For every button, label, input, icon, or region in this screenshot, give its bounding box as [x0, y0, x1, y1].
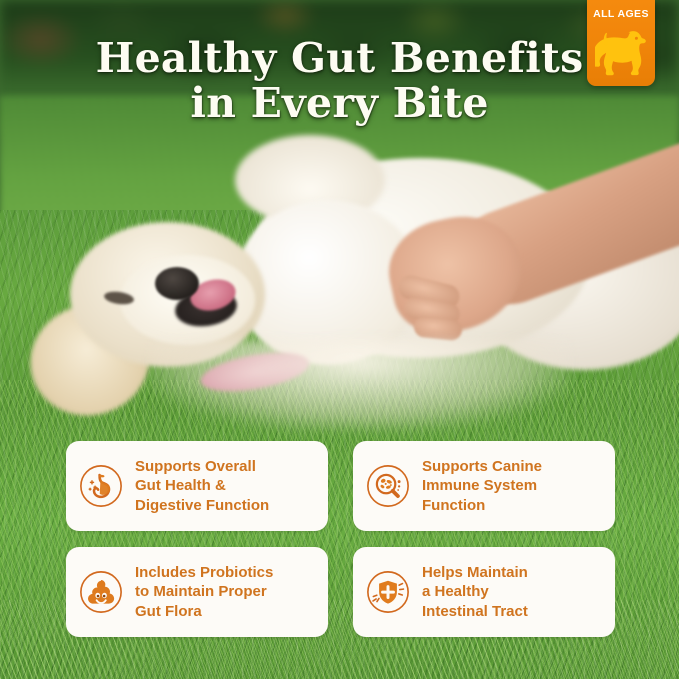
product-benefit-poster: Healthy Gut Benefits in Every Bite ALL A… [0, 0, 679, 679]
stomach-icon [78, 463, 124, 509]
all-ages-badge-label: ALL AGES [593, 8, 649, 20]
benefit-line: Immune System [422, 476, 542, 496]
benefit-card-intestinal-tract: Helps Maintain a Healthy Intestinal Trac… [353, 547, 615, 637]
dog-fur-fringe [150, 340, 570, 430]
benefit-text: Supports Overall Gut Health & Digestive … [135, 457, 269, 516]
headline-line-1: Healthy Gut Benefits [96, 34, 584, 82]
benefit-text: Includes Probiotics to Maintain Proper G… [135, 563, 273, 622]
smiling-poop-icon [78, 569, 124, 615]
benefit-line: Function [422, 496, 542, 516]
benefit-line: Supports Canine [422, 457, 542, 477]
benefit-text: Helps Maintain a Healthy Intestinal Trac… [422, 563, 528, 622]
benefit-line: Gut Health & [135, 476, 269, 496]
benefits-grid: Supports Overall Gut Health & Digestive … [66, 441, 615, 637]
benefit-line: Intestinal Tract [422, 602, 528, 622]
page-title: Healthy Gut Benefits in Every Bite [0, 36, 679, 126]
shield-plus-icon [365, 569, 411, 615]
benefit-line: to Maintain Proper [135, 582, 273, 602]
benefit-line: Supports Overall [135, 457, 269, 477]
sitting-dog-silhouette-icon [595, 22, 647, 76]
benefit-line: Gut Flora [135, 602, 273, 622]
benefit-card-gut-health: Supports Overall Gut Health & Digestive … [66, 441, 328, 531]
headline-line-2: in Every Bite [70, 81, 609, 126]
benefit-line: Helps Maintain [422, 563, 528, 583]
magnifier-microbes-icon [365, 463, 411, 509]
benefit-line: Digestive Function [135, 496, 269, 516]
benefit-card-probiotics: Includes Probiotics to Maintain Proper G… [66, 547, 328, 637]
benefit-card-immune-system: Supports Canine Immune System Function [353, 441, 615, 531]
benefit-text: Supports Canine Immune System Function [422, 457, 542, 516]
benefit-line: Includes Probiotics [135, 563, 273, 583]
dog-nose [155, 267, 199, 300]
all-ages-badge: ALL AGES [587, 0, 655, 86]
benefit-line: a Healthy [422, 582, 528, 602]
